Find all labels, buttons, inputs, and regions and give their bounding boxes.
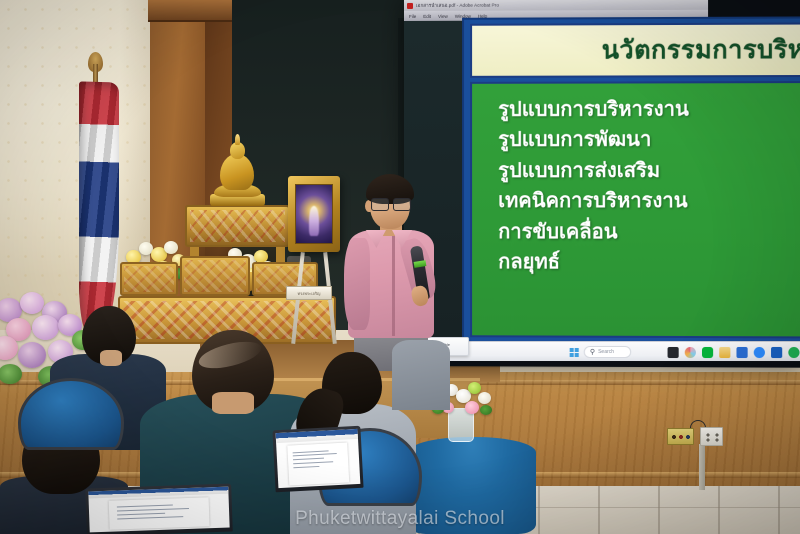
taskbar-app-icon-edge[interactable] xyxy=(685,346,696,357)
taskbar-search-box[interactable]: ⚲ Search xyxy=(584,346,631,358)
menu-item-view[interactable]: View xyxy=(438,13,448,18)
presenter-left-arm xyxy=(344,238,370,330)
taskbar-center-group: ⚲ Search xyxy=(570,342,632,362)
eyeglasses-icon xyxy=(369,198,412,209)
attendee-far-right xyxy=(392,300,452,410)
laptop-document-front xyxy=(108,497,210,530)
slide-bullet-2: รูปแบบการพัฒนา xyxy=(498,124,800,155)
altar-tier-center xyxy=(180,256,250,296)
laptop-screen-right xyxy=(276,429,361,488)
power-outlet-plate xyxy=(700,427,723,446)
attendee-laptop-right[interactable] xyxy=(272,426,363,493)
framed-royal-portrait xyxy=(288,176,340,252)
menu-item-file[interactable]: File xyxy=(409,13,416,18)
windows-logo-icon[interactable] xyxy=(570,347,579,356)
attendee-laptop-front[interactable] xyxy=(85,483,233,534)
golden-buddha-statue xyxy=(206,134,268,204)
altar-tier-left xyxy=(120,262,178,296)
taskbar-app-icon-outlook[interactable] xyxy=(771,346,782,357)
slide-body: รูปแบบการบริหารงาน รูปแบบการพัฒนา รูปแบบ… xyxy=(470,81,800,339)
av-wall-plate xyxy=(667,428,694,445)
taskbar-search-placeholder: Search xyxy=(598,349,614,355)
buddha-body xyxy=(220,154,254,190)
screen-drop-shadow xyxy=(404,361,800,368)
slide-bullet-4: เทคนิคการบริหารงาน xyxy=(498,185,800,216)
slide-title-band: นวัตกรรมการบริหาร xyxy=(470,22,800,77)
portrait-placard: ทรงพระเจริญ xyxy=(286,286,332,300)
taskbar-app-tray xyxy=(668,342,800,362)
laptop-screen-front xyxy=(88,487,229,533)
slide-bullet-3: รูปแบบการส่งเสริม xyxy=(498,154,800,185)
attendee-far-right-torso xyxy=(392,340,450,410)
menu-item-edit[interactable]: Edit xyxy=(423,13,431,18)
taskbar-app-icon-zoom[interactable] xyxy=(754,346,765,357)
portrait-image xyxy=(295,184,333,244)
buddha-ushnisha xyxy=(235,134,240,145)
taskbar-app-icon-whatsapp[interactable] xyxy=(788,346,799,357)
adobe-acrobat-icon xyxy=(407,2,413,8)
taskbar-app-icon-line[interactable] xyxy=(702,346,713,357)
slide-title: นวัตกรรมการบริหาร xyxy=(602,29,800,70)
taskbar-app-icon-file-explorer[interactable] xyxy=(719,346,730,357)
presentation-slide: นวัตกรรมการบริหาร รูปแบบการบริหารงาน รูป… xyxy=(462,16,800,344)
slide-bullet-6: กลยุทธ์ xyxy=(498,246,800,277)
altar-table-upper xyxy=(185,205,290,247)
slide-bullet-5: การขับเคลื่อน xyxy=(498,216,800,247)
attendee-center-neck xyxy=(212,392,254,414)
portrait-figure xyxy=(309,206,319,236)
taskbar-app-icon-lenovo[interactable] xyxy=(668,346,679,357)
taskbar-app-icon-store[interactable] xyxy=(736,346,747,357)
acrobat-window-title: เอกสารนำเสนอ.pdf - Adobe Acrobat Pro xyxy=(416,2,499,9)
laptop-app-ribbon-right xyxy=(276,429,358,443)
presentation-photo: ทรงพระเจริญ เอกสารนำเสนอ.pdf - Adobe Acr… xyxy=(0,0,800,534)
front-round-table xyxy=(408,437,536,534)
laptop-lid-front xyxy=(85,483,233,534)
search-icon: ⚲ xyxy=(590,348,595,355)
projection-screen: เอกสารนำเสนอ.pdf - Adobe Acrobat Pro Fil… xyxy=(404,0,800,368)
laptop-document-right xyxy=(288,443,349,486)
slide-bullet-1: รูปแบบการบริหารงาน xyxy=(498,93,800,124)
cable-raceway xyxy=(699,444,705,490)
attendee-back-left-neck xyxy=(100,350,122,366)
laptop-lid-right xyxy=(272,426,363,493)
